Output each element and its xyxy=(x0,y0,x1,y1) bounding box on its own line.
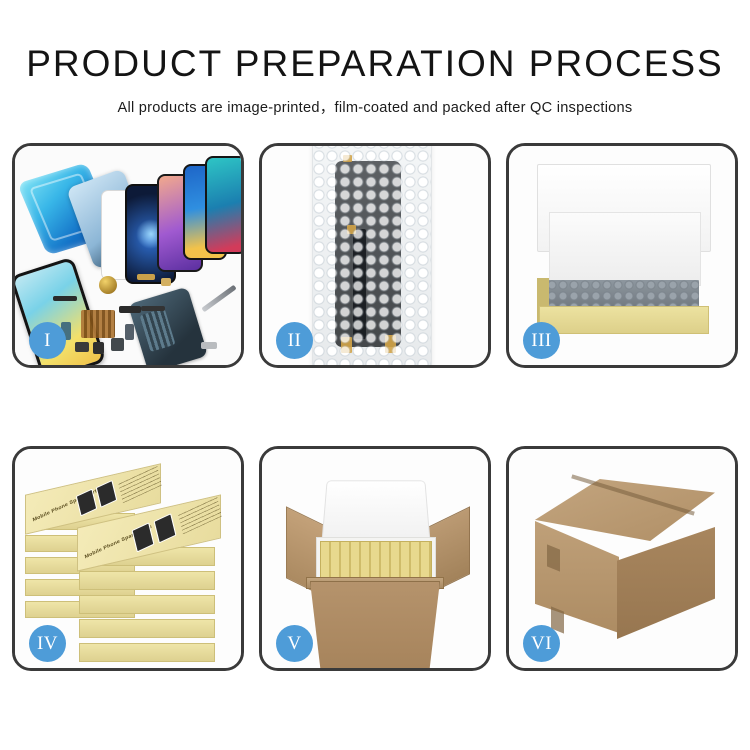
foam-sheet-graphic xyxy=(549,212,701,286)
step-badge: II xyxy=(276,322,313,359)
yellow-box-front-graphic xyxy=(539,306,709,334)
process-step-3: III xyxy=(506,143,738,368)
bubble-wrap-bag-graphic xyxy=(312,146,432,365)
step-badge: I xyxy=(29,322,66,359)
carton-right-face-graphic xyxy=(617,527,715,639)
process-step-4: Mobile Phone Spare Parts Mobile Phone Sp… xyxy=(12,446,244,671)
phone-graphic xyxy=(205,156,241,254)
carton-left-face-graphic xyxy=(535,521,619,633)
process-step-1: I xyxy=(12,143,244,368)
carton-tape-graphic xyxy=(547,544,560,571)
page-subtitle: All products are image-printed，film-coat… xyxy=(0,96,750,117)
step-badge: VI xyxy=(523,625,560,662)
carton-body-graphic xyxy=(310,581,440,668)
speaker-module-graphic xyxy=(99,276,117,294)
process-step-2: II xyxy=(259,143,491,368)
step-badge: V xyxy=(276,625,313,662)
connector-chip-graphic xyxy=(81,310,115,338)
process-step-5: V xyxy=(259,446,491,671)
page-title: PRODUCT PREPARATION PROCESS xyxy=(0,45,750,82)
step-badge: III xyxy=(523,322,560,359)
product-preparation-infographic: PRODUCT PREPARATION PROCESS All products… xyxy=(0,0,750,750)
process-step-grid: I II xyxy=(12,143,738,686)
step-badge: IV xyxy=(29,625,66,662)
process-step-6: VI xyxy=(506,446,738,671)
header: PRODUCT PREPARATION PROCESS All products… xyxy=(0,0,750,117)
